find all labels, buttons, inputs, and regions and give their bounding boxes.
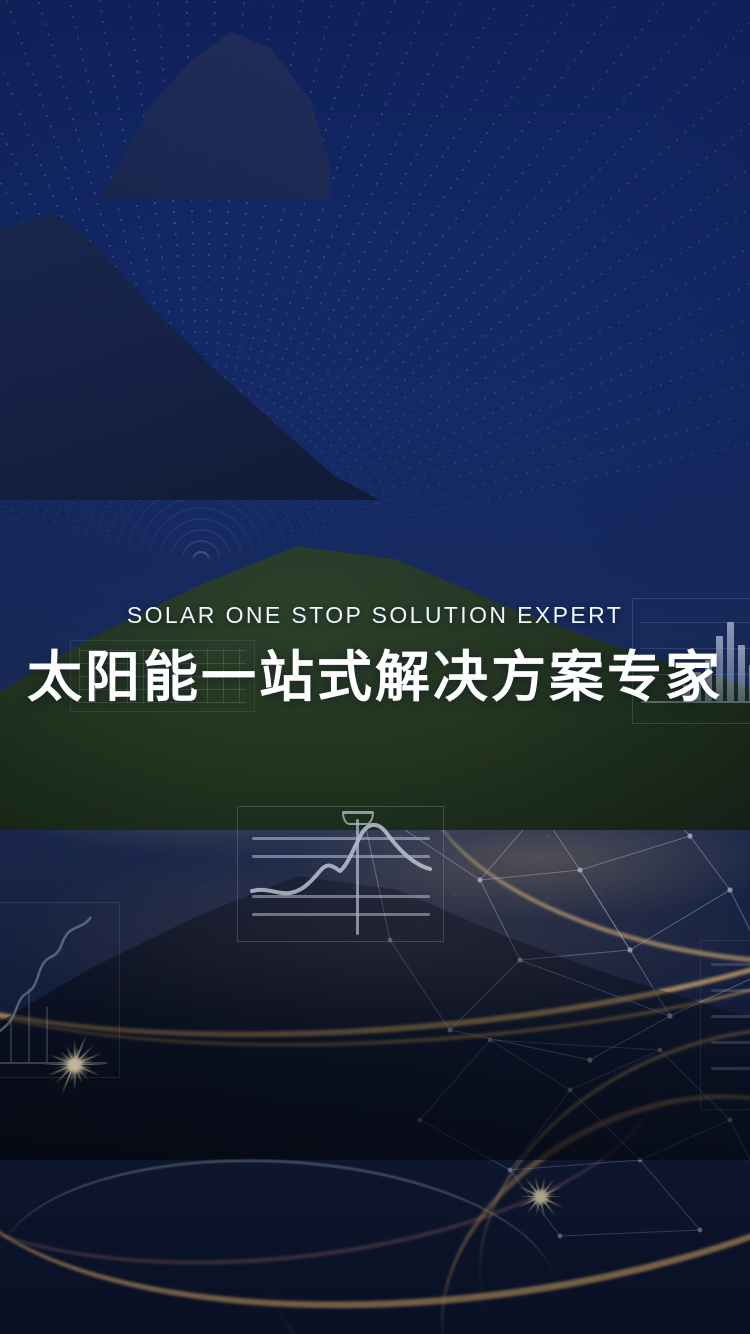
hero-copy: SOLAR ONE STOP SOLUTION EXPERT 太阳能一站式解决方…	[0, 596, 750, 710]
hero-headline: 太阳能一站式解决方案专家	[0, 644, 750, 710]
banner-hero: SOLAR ONE STOP SOLUTION EXPERT 太阳能一站式解决方…	[0, 0, 750, 1334]
hero-subtitle: SOLAR ONE STOP SOLUTION EXPERT	[0, 596, 750, 634]
